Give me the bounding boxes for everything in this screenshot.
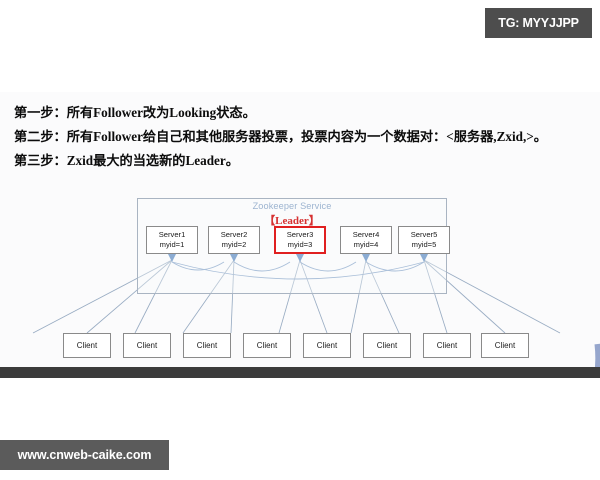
step-line-3: 第三步：Zxid最大的当选新的Leader。	[14, 149, 594, 173]
server-name-4: Server4	[353, 230, 380, 241]
client-box-1[interactable]: Client	[63, 333, 111, 358]
server-myid-2: myid=2	[222, 240, 247, 251]
server-myid-1: myid=1	[160, 240, 185, 251]
client-label-3: Client	[197, 341, 217, 350]
client-box-7[interactable]: Client	[423, 333, 471, 358]
client-box-3[interactable]: Client	[183, 333, 231, 358]
client-box-4[interactable]: Client	[243, 333, 291, 358]
slide-bottom-bar	[0, 367, 600, 378]
server-box-4[interactable]: Server4 myid=4	[340, 226, 392, 254]
server-box-1[interactable]: Server1 myid=1	[146, 226, 198, 254]
server-box-2[interactable]: Server2 myid=2	[208, 226, 260, 254]
client-label-2: Client	[137, 341, 157, 350]
step-line-1: 第一步：所有Follower改为Looking状态。	[14, 101, 594, 125]
zookeeper-architecture-diagram: Zookeeper Service 【Leader】 Server1 myid=…	[0, 192, 600, 378]
client-box-2[interactable]: Client	[123, 333, 171, 358]
client-label-7: Client	[437, 341, 457, 350]
site-url-label: www.cnweb-caike.com	[18, 448, 152, 462]
client-box-8[interactable]: Client	[481, 333, 529, 358]
step-line-2: 第二步：所有Follower给自己和其他服务器投票，投票内容为一个数据对：<服务…	[14, 125, 594, 149]
client-label-8: Client	[495, 341, 515, 350]
server-myid-4: myid=4	[354, 240, 379, 251]
steps-text-block: 第一步：所有Follower改为Looking状态。 第二步：所有Followe…	[14, 101, 594, 173]
server-name-5: Server5	[411, 230, 438, 241]
server-box-5[interactable]: Server5 myid=5	[398, 226, 450, 254]
site-url-badge: www.cnweb-caike.com	[0, 440, 169, 470]
client-label-4: Client	[257, 341, 277, 350]
telegram-badge: TG: MYYJJPP	[485, 8, 592, 38]
zookeeper-service-title: Zookeeper Service	[137, 201, 447, 211]
telegram-badge-label: TG: MYYJJPP	[498, 16, 578, 30]
server-name-3: Server3	[287, 230, 314, 241]
server-myid-5: myid=5	[412, 240, 437, 251]
server-name-1: Server1	[159, 230, 186, 241]
client-label-5: Client	[317, 341, 337, 350]
client-box-6[interactable]: Client	[363, 333, 411, 358]
server-myid-3: myid=3	[288, 240, 313, 251]
client-box-5[interactable]: Client	[303, 333, 351, 358]
server-name-2: Server2	[221, 230, 248, 241]
client-label-1: Client	[77, 341, 97, 350]
slide-panel: 第一步：所有Follower改为Looking状态。 第二步：所有Followe…	[0, 92, 600, 378]
server-box-3-leader[interactable]: Server3 myid=3	[274, 226, 326, 254]
client-label-6: Client	[377, 341, 397, 350]
